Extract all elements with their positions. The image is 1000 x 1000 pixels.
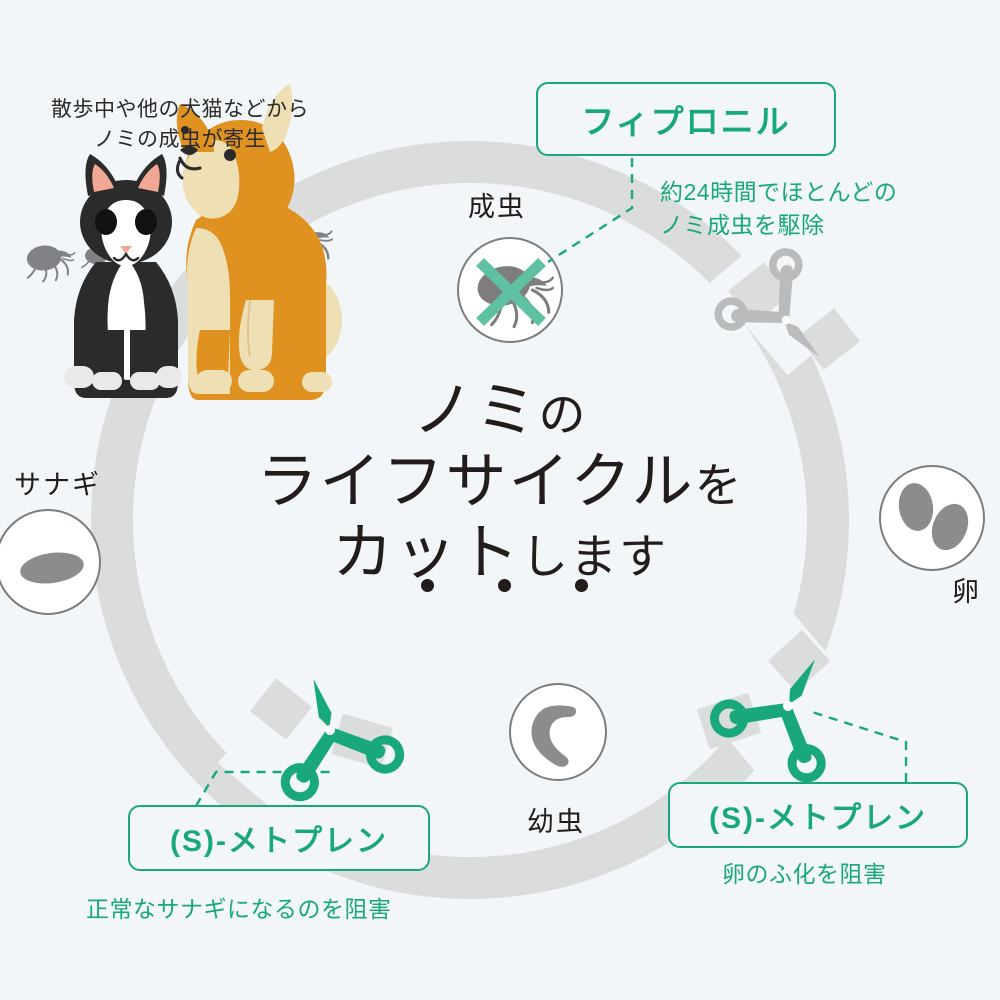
page-title: ノミの ライフサイクルを カットします: [170, 375, 830, 587]
callout-fipronil-note: 約24時間でほとんどの ノミ成虫を駆除: [660, 176, 897, 243]
intro-caption: 散歩中や他の犬猫などから ノミの成虫が寄生: [20, 95, 340, 156]
callout-methoprene-pupa-note-line-1: 正常なサナギになるのを阻害: [86, 893, 392, 926]
emphasis-dots: [170, 579, 830, 592]
intro-line-1: 散歩中や他の犬猫などから: [20, 95, 340, 125]
callout-methoprene-pupa-box[interactable]: (S)-メトプレン: [128, 805, 430, 871]
intro-line-2: ノミの成虫が寄生: [20, 125, 340, 155]
infographic-canvas: 散歩中や他の犬猫などから ノミの成虫が寄生 ノミの ライフサイクルを カットしま…: [0, 0, 1000, 1000]
callout-methoprene-egg-box[interactable]: (S)-メトプレン: [668, 782, 968, 848]
stage-label-larva: 幼虫: [527, 800, 585, 839]
callout-methoprene-pupa-note: 正常なサナギになるのを阻害: [86, 893, 392, 926]
title-line1-main: ノミ: [412, 376, 538, 444]
title-line2-suffix: を: [694, 459, 743, 512]
callout-fipronil-box[interactable]: フィプロニル: [536, 82, 836, 156]
callout-methoprene-egg-note: 卵のふ化を阻害: [722, 858, 887, 891]
title-line3-suffix: します: [521, 530, 668, 583]
callout-fipronil-note-line-1: 約24時間でほとんどの: [660, 176, 897, 209]
stage-label-egg: 卵: [952, 570, 981, 609]
title-line1-suffix: の: [539, 388, 588, 441]
tuxedo-cat-illustration: [64, 154, 182, 398]
stage-label-pupa: サナギ: [14, 463, 101, 502]
stage-label-adult: 成虫: [468, 185, 526, 224]
flea-left-1-icon: [21, 239, 75, 285]
title-line3-main: カット: [332, 518, 521, 586]
callout-fipronil-note-line-2: ノミ成虫を駆除: [660, 209, 897, 242]
callout-methoprene-egg-note-line-1: 卵のふ化を阻害: [722, 858, 887, 891]
title-line2-main: ライフサイクル: [257, 447, 695, 515]
